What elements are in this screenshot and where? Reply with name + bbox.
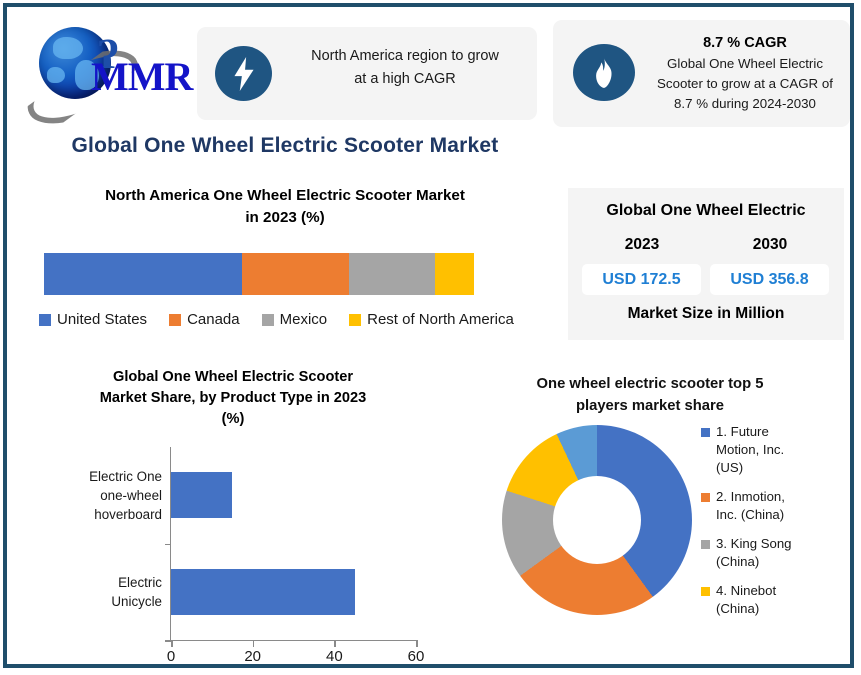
market-size-value-2030: USD 356.8 <box>710 264 829 295</box>
category-label-line: Electric One <box>52 467 162 486</box>
top-players-legend: 1. FutureMotion, Inc.(US)2. Inmotion,Inc… <box>701 423 851 629</box>
legend-item: United States <box>39 311 147 328</box>
product-type-plot-area: Electric Oneone-wheelhoverboardElectricU… <box>170 447 416 641</box>
x-axis-tick <box>334 640 336 647</box>
region-card-line2: at a high CAGR <box>285 68 525 91</box>
x-axis-tick-label: 40 <box>326 648 343 665</box>
pt-title-line2: Market Share, by Product Type in 2023 <box>23 388 443 409</box>
legend-label: Rest of North America <box>367 311 514 328</box>
legend-label-line: Inc. (China) <box>716 506 785 524</box>
donut-chart <box>502 425 692 615</box>
flame-icon <box>573 44 635 101</box>
pt-title-line1: Global One Wheel Electric Scooter <box>23 367 443 388</box>
lightning-bolt-icon <box>215 46 272 101</box>
region-card-line1: North America region to grow <box>285 45 525 68</box>
legend-item: 1. FutureMotion, Inc.(US) <box>701 423 851 477</box>
category-label-line: Electric <box>52 573 162 592</box>
pt-title-line3: (%) <box>23 409 443 430</box>
legend-label-line: 4. Ninebot <box>716 582 776 600</box>
x-axis-tick-label: 60 <box>408 648 425 665</box>
north-america-chart-title: North America One Wheel Electric Scooter… <box>27 185 543 229</box>
legend-item: 2. Inmotion,Inc. (China) <box>701 488 851 524</box>
legend-label: Canada <box>187 311 240 328</box>
legend-item: Canada <box>169 311 240 328</box>
legend-label-line: (China) <box>716 600 776 618</box>
legend-item: Rest of North America <box>349 311 514 328</box>
legend-label: United States <box>57 311 147 328</box>
region-card-text: North America region to grow at a high C… <box>285 45 525 91</box>
na-title-line2: in 2023 (%) <box>27 207 543 229</box>
legend-swatch-icon <box>39 314 51 326</box>
x-axis-tick-label: 20 <box>244 648 261 665</box>
legend-label: 3. King Song(China) <box>716 535 792 571</box>
y-axis-tick <box>165 544 171 546</box>
legend-label: 1. FutureMotion, Inc.(US) <box>716 423 784 477</box>
product-type-chart-title: Global One Wheel Electric Scooter Market… <box>23 367 443 430</box>
legend-swatch-icon <box>701 540 710 549</box>
north-america-chart: North America One Wheel Electric Scooter… <box>27 185 543 229</box>
market-size-panel: Global One Wheel Electric 2023 2030 USD … <box>568 188 844 340</box>
category-label-line: Unicycle <box>52 592 162 611</box>
market-size-footer: Market Size in Million <box>568 305 844 323</box>
stacked-bar <box>44 253 474 295</box>
cagr-card-text: 8.7 % CAGR Global One Wheel Electric Sco… <box>645 32 845 114</box>
legend-swatch-icon <box>169 314 181 326</box>
x-axis-tick <box>253 640 255 647</box>
legend-swatch-icon <box>701 587 710 596</box>
cagr-line3: 8.7 % during 2024-2030 <box>645 94 845 114</box>
legend-swatch-icon <box>262 314 274 326</box>
market-size-year-2030: 2030 <box>710 236 830 254</box>
legend-label: 2. Inmotion,Inc. (China) <box>716 488 785 524</box>
top-players-chart-title: One wheel electric scooter top 5 players… <box>495 373 805 417</box>
category-label-line: hoverboard <box>52 505 162 524</box>
mmr-logo: ʔ MMR <box>21 15 189 111</box>
region-info-card: North America region to grow at a high C… <box>197 27 537 120</box>
infographic-frame: ʔ MMR North America region to grow at a … <box>3 3 854 668</box>
na-title-line1: North America One Wheel Electric Scooter… <box>27 185 543 207</box>
north-america-legend: United StatesCanadaMexicoRest of North A… <box>39 311 555 328</box>
x-axis-tick-label: 0 <box>167 648 175 665</box>
stacked-bar-segment <box>349 253 435 295</box>
stacked-bar-segment <box>44 253 242 295</box>
category-label: ElectricUnicycle <box>52 573 171 611</box>
cagr-info-card: 8.7 % CAGR Global One Wheel Electric Sco… <box>553 20 850 127</box>
donut-hole <box>553 476 641 564</box>
bar <box>171 569 355 615</box>
logo-wordmark: MMR <box>91 53 192 100</box>
legend-label-line: 2. Inmotion, <box>716 488 785 506</box>
legend-label: 4. Ninebot(China) <box>716 582 776 618</box>
legend-swatch-icon <box>349 314 361 326</box>
dn-title-line1: One wheel electric scooter top 5 <box>495 373 805 395</box>
legend-swatch-icon <box>701 428 710 437</box>
cagr-line2: Scooter to grow at a CAGR of <box>645 74 845 94</box>
product-type-chart: Global One Wheel Electric Scooter Market… <box>23 367 443 667</box>
legend-label-line: (China) <box>716 553 792 571</box>
dn-title-line2: players market share <box>495 395 805 417</box>
stacked-bar-segment <box>242 253 350 295</box>
top-players-chart: One wheel electric scooter top 5 players… <box>485 373 857 668</box>
x-axis-tick <box>416 640 418 647</box>
legend-item: 3. King Song(China) <box>701 535 851 571</box>
legend-item: 4. Ninebot(China) <box>701 582 851 618</box>
bar <box>171 472 232 518</box>
legend-item: Mexico <box>262 311 328 328</box>
legend-label-line: 1. Future <box>716 423 784 441</box>
legend-label: Mexico <box>280 311 328 328</box>
market-size-year-2023: 2023 <box>582 236 702 254</box>
legend-swatch-icon <box>701 493 710 502</box>
market-size-title: Global One Wheel Electric <box>568 202 844 220</box>
x-axis-tick <box>171 640 173 647</box>
cagr-headline: 8.7 % CAGR <box>645 32 845 54</box>
page-title: Global One Wheel Electric Scooter Market <box>7 134 563 158</box>
category-label-line: one-wheel <box>52 486 162 505</box>
legend-label-line: 3. King Song <box>716 535 792 553</box>
stacked-bar-segment <box>435 253 474 295</box>
cagr-line1: Global One Wheel Electric <box>645 54 845 74</box>
legend-label-line: Motion, Inc. <box>716 441 784 459</box>
market-size-value-2023: USD 172.5 <box>582 264 701 295</box>
header: ʔ MMR North America region to grow at a … <box>7 7 850 125</box>
category-label: Electric Oneone-wheelhoverboard <box>52 467 171 524</box>
legend-label-line: (US) <box>716 459 784 477</box>
